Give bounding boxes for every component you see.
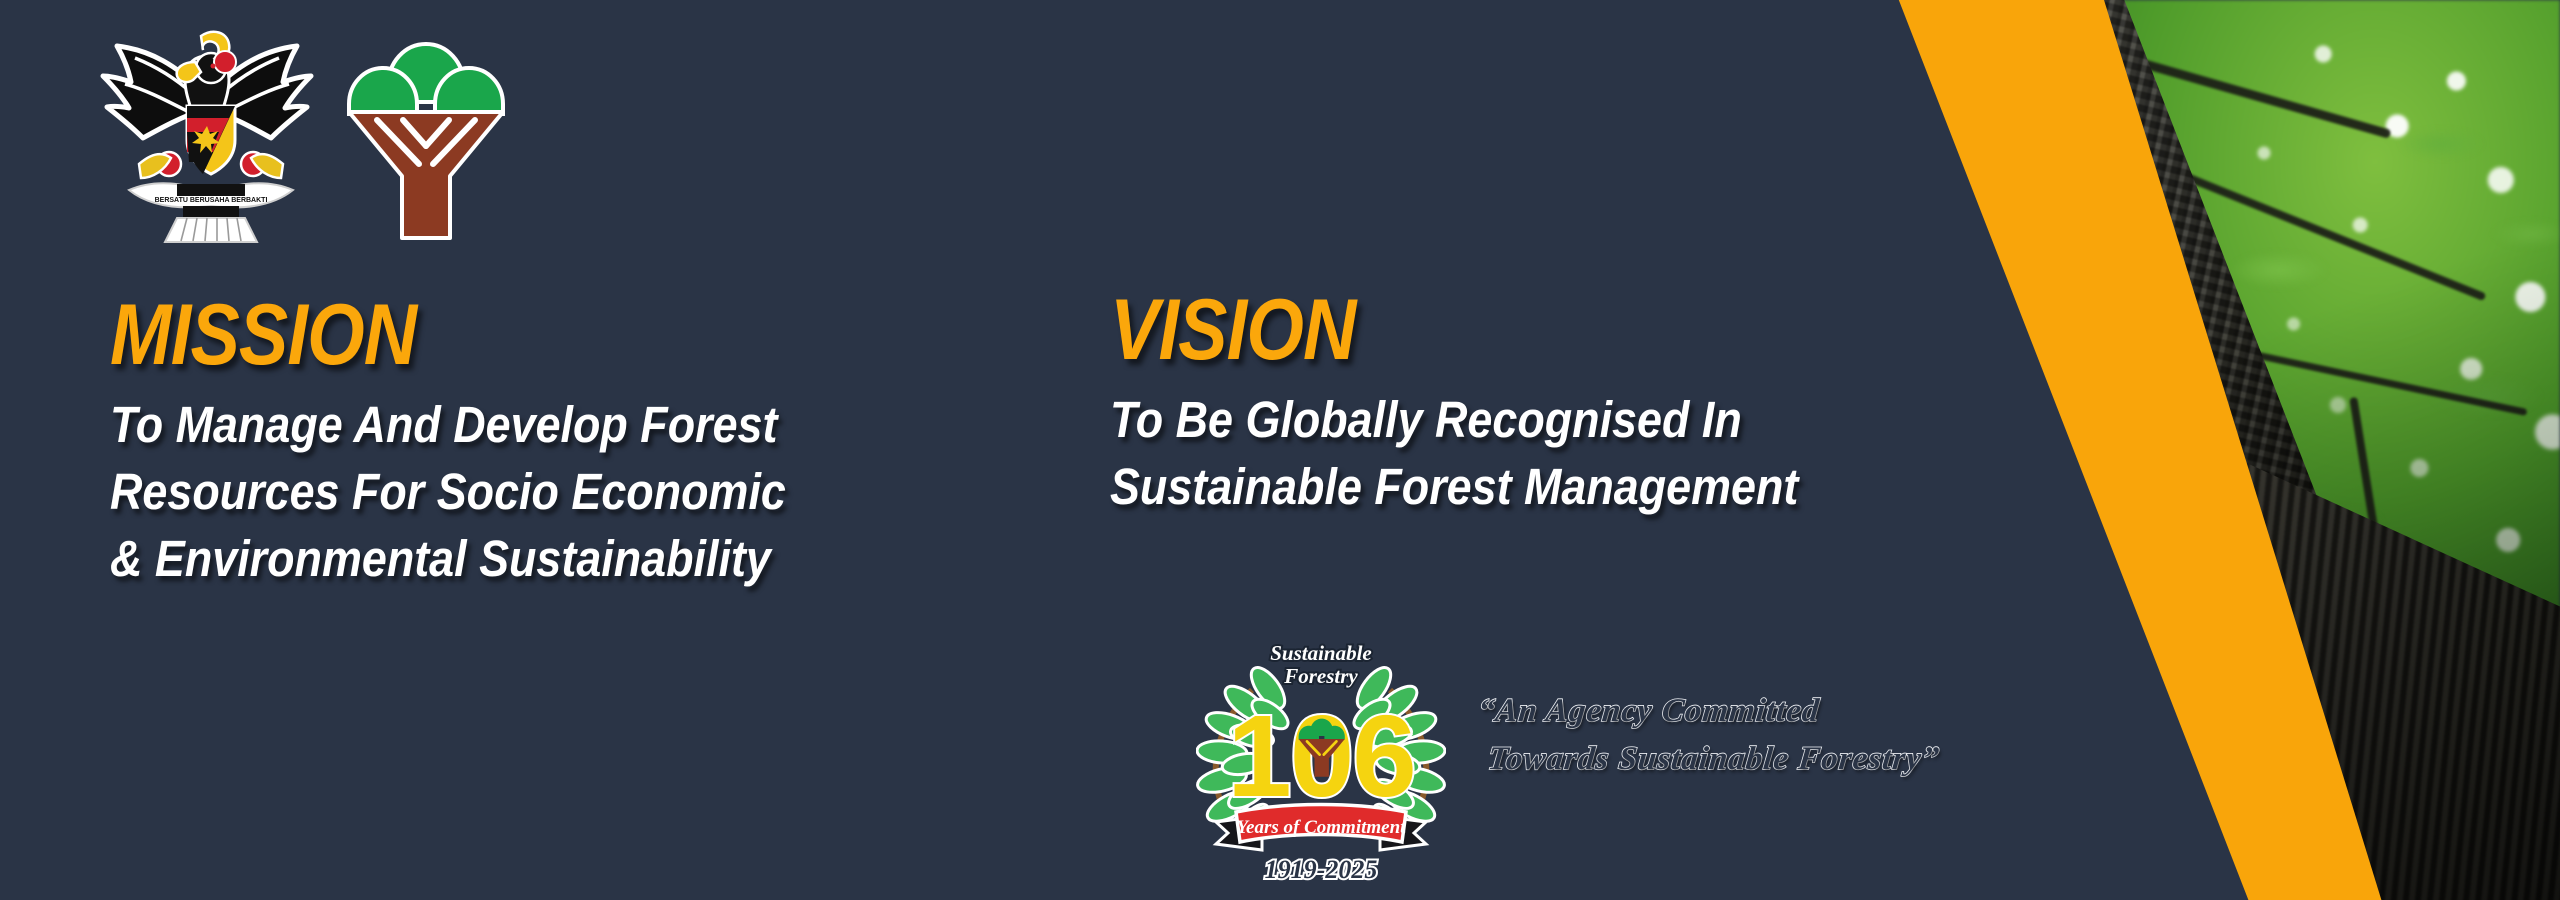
mission-heading: MISSION xyxy=(110,295,771,377)
emblem-years: 1919-2025 xyxy=(1265,855,1378,884)
vision-line-1: To Be Globally Recognised In xyxy=(1110,386,1798,453)
sarawak-state-crest-icon: BERSATU BERUSAHA BERBAKTI xyxy=(95,14,319,246)
vision-block: VISION To Be Globally Recognised In Sust… xyxy=(1110,290,1892,520)
emblem-top-line1: Sustainable xyxy=(1270,641,1372,665)
anniversary-106-emblem-icon: Sustainable Forestry 106 Years of Commit… xyxy=(1196,636,1446,892)
tagline-line-1: “An Agency Committed xyxy=(1475,688,2100,736)
logo-row: BERSATU BERUSAHA BERBAKTI xyxy=(95,14,505,246)
tagline-line-2: Towards Sustainable Forestry” xyxy=(1485,736,2100,784)
vision-line-2: Sustainable Forest Management xyxy=(1110,453,1798,520)
mission-vision-banner: BERSATU BERUSAHA BERBAKTI xyxy=(0,0,2560,900)
vision-heading: VISION xyxy=(1110,290,1783,372)
mission-line-2: Resources For Socio Economic xyxy=(110,458,786,525)
mission-block: MISSION To Manage And Develop Forest Res… xyxy=(110,295,878,593)
emblem-top-line2: Forestry xyxy=(1283,664,1358,688)
mission-line-1: To Manage And Develop Forest xyxy=(110,391,786,458)
tagline-block: “An Agency Committed Towards Sustainable… xyxy=(1478,688,2098,784)
mission-line-3: & Environmental Sustainability xyxy=(110,525,786,592)
svg-text:BERSATU BERUSAHA BERBAKTI: BERSATU BERUSAHA BERBAKTI xyxy=(155,197,268,204)
emblem-banner-text: Years of Commitment xyxy=(1237,817,1407,838)
forest-department-tree-logo-icon xyxy=(347,42,505,242)
